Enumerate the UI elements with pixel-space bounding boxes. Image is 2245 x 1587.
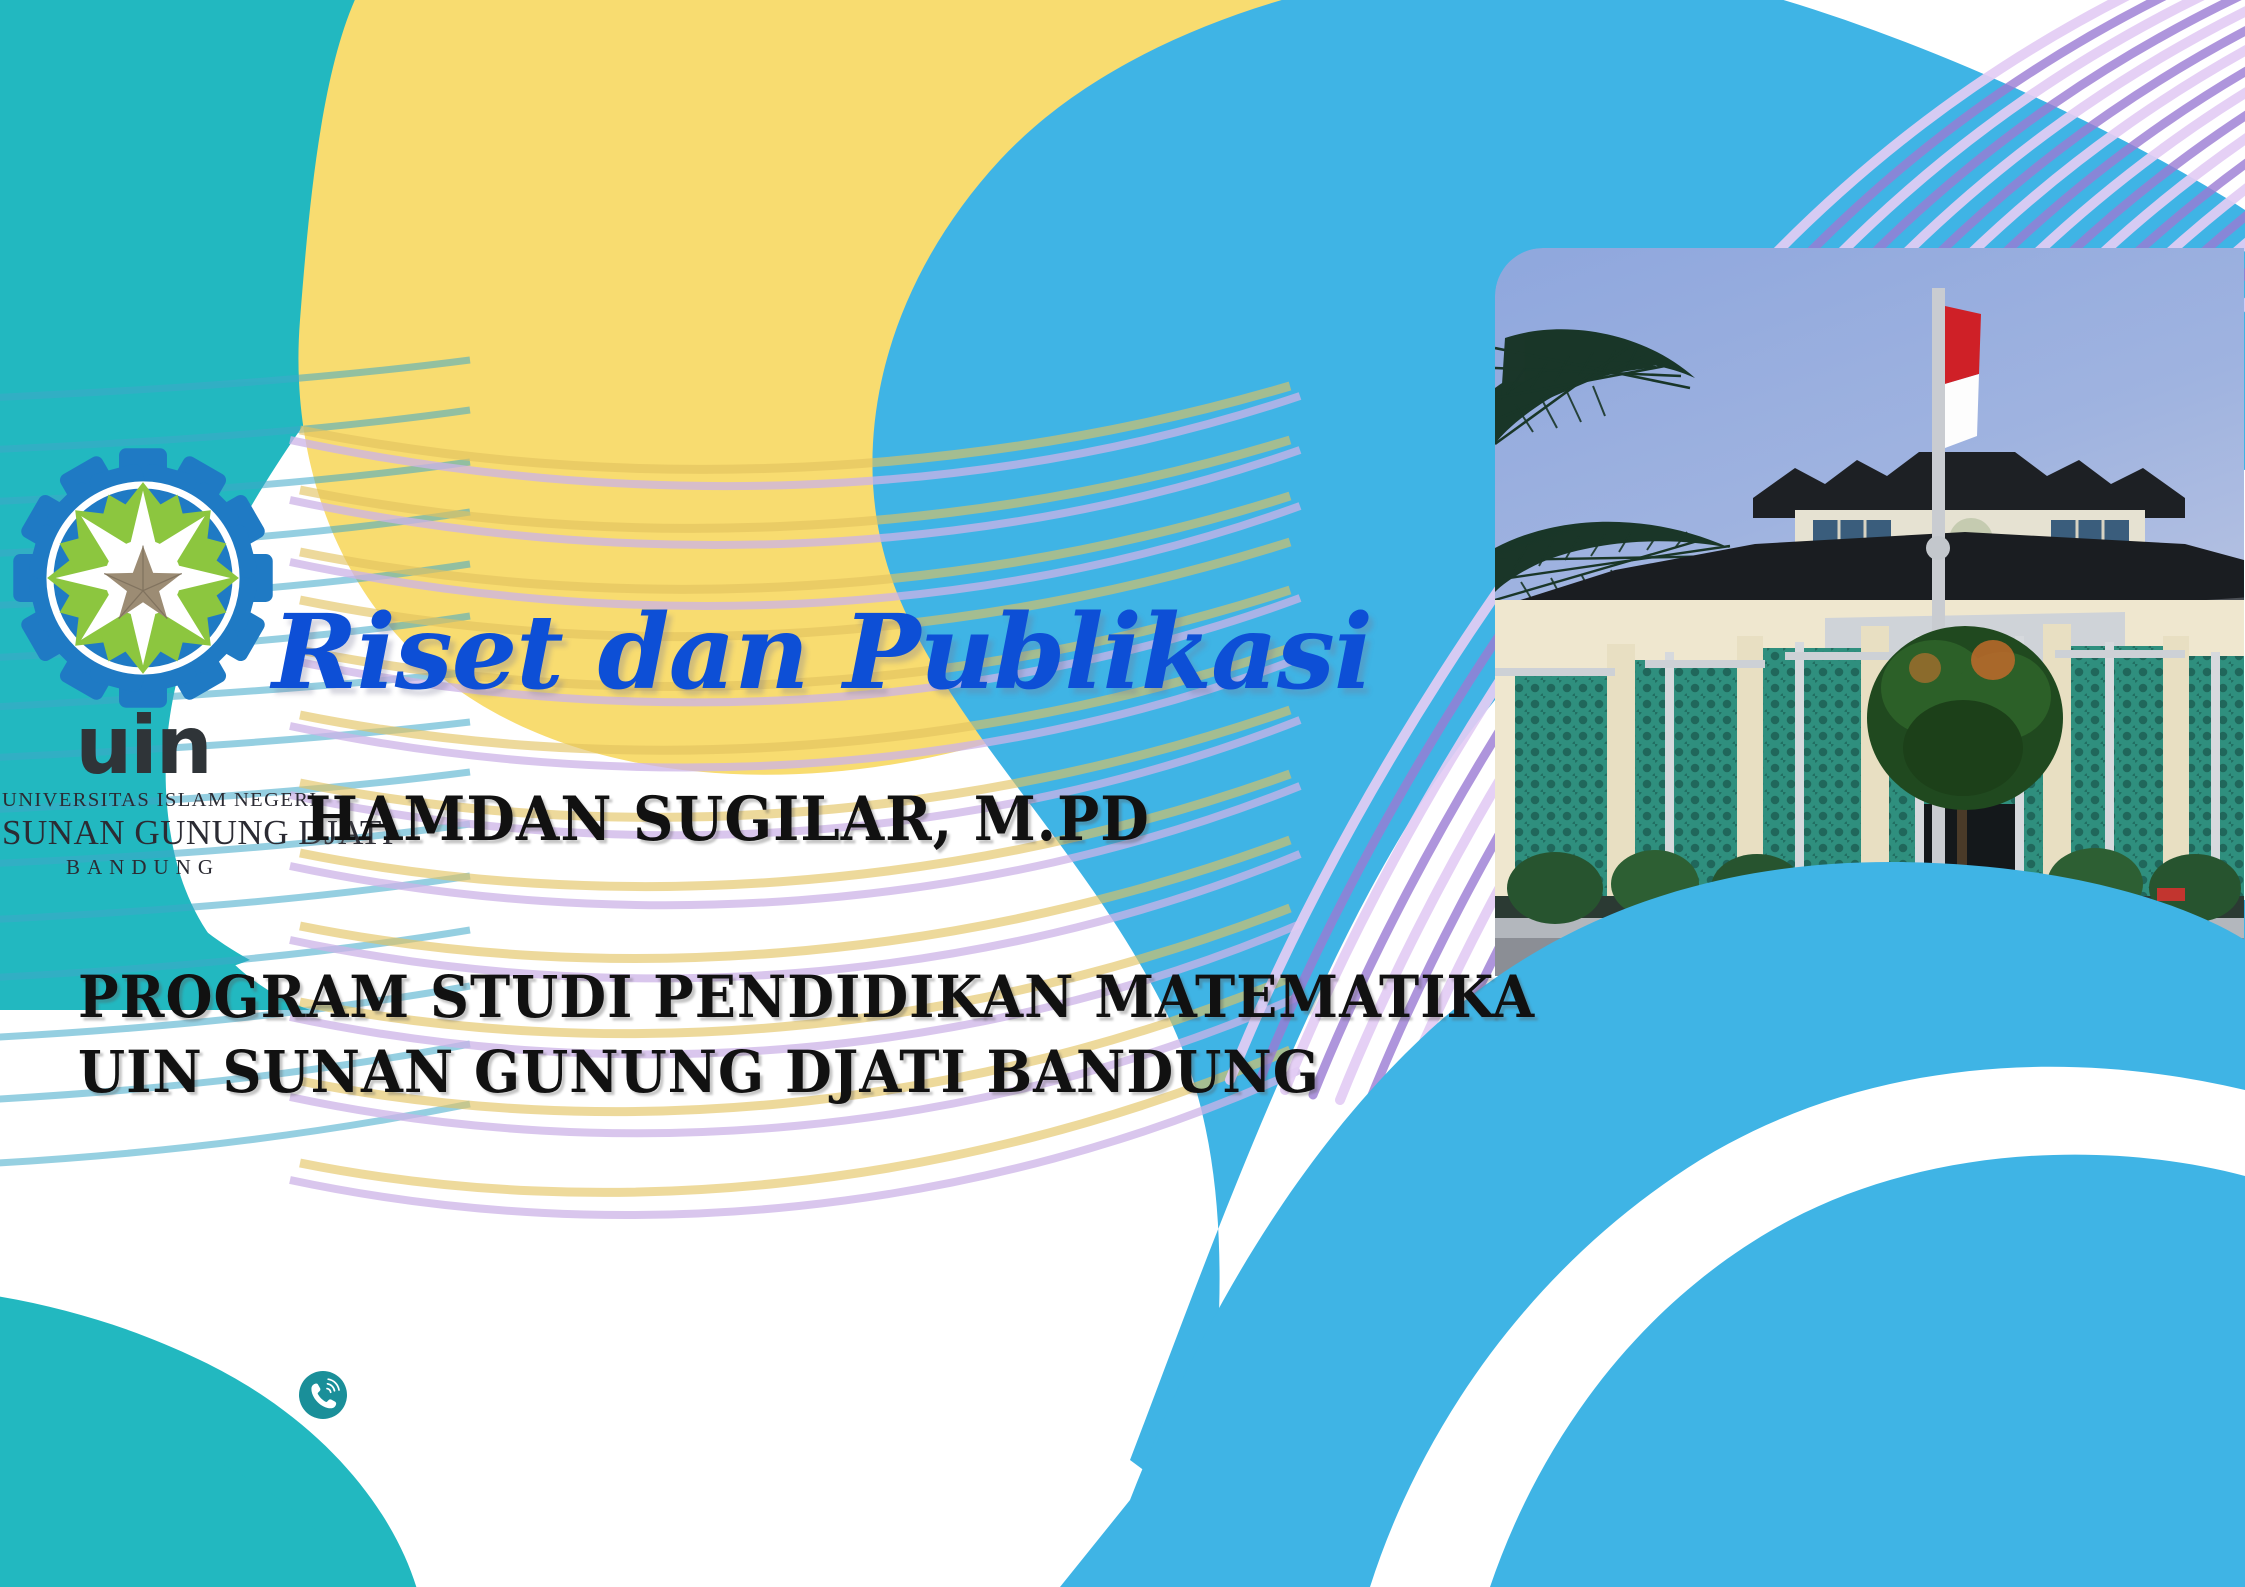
uin-wordmark: uin <box>2 713 284 779</box>
logo-universitas-line: UNIVERSITAS ISLAM NEGERI <box>2 789 284 812</box>
logo-sunan-gunung-djati-line: SUNAN GUNUNG DJATI <box>2 813 284 853</box>
program-affiliation: PROGRAM STUDI PENDIDIKAN MATEMATIKA UIN … <box>78 960 1535 1109</box>
program-line-2: UIN SUNAN GUNUNG DJATI BANDUNG <box>78 1035 1535 1110</box>
program-line-1: PROGRAM STUDI PENDIDIKAN MATEMATIKA <box>78 960 1535 1035</box>
slide-title: Riset dan Publikasi <box>272 592 1372 713</box>
uin-emblem-icon <box>2 437 284 719</box>
presentation-slide: UNIVERSITAS ISLAM NEGERI (UIN) SUNAN GUN… <box>0 0 2245 1587</box>
logo-bandung-line: BANDUNG <box>2 855 284 880</box>
uin-logo: uin UNIVERSITAS ISLAM NEGERI SUNAN GUNUN… <box>2 437 284 880</box>
phone-call-icon[interactable] <box>298 1370 348 1420</box>
phone-call-badge[interactable] <box>298 1370 348 1420</box>
presenter-name: HAMDAN SUGILAR, M.PD <box>305 784 1150 855</box>
